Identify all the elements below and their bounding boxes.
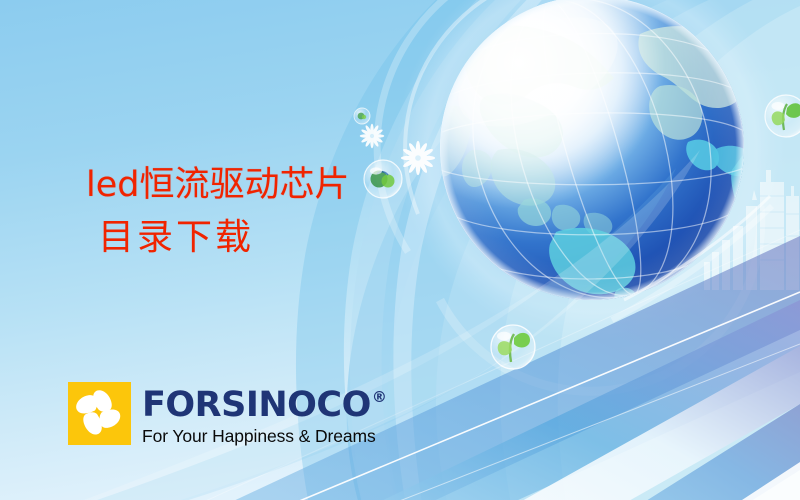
light-streak [624,196,770,300]
registered-trademark-icon: ® [372,390,387,405]
bubble-right [765,95,800,137]
slide-canvas: led恒流驱动芯片 目录下载 FORSINOCO ® For Your Happ… [0,0,800,500]
logo-wordmark: FORSINOCO ® [142,388,386,423]
bubble-tiny [354,108,370,124]
corner-ribbon-bands [120,230,800,500]
headline-block: led恒流驱动芯片 目录下载 [86,164,506,260]
city-skyline-silhouette [704,170,799,290]
pinwheel-icon [68,382,131,445]
headline-line-2: 目录下载 [98,216,506,260]
logo-tagline: For Your Happiness & Dreams [142,426,386,447]
logo-text-block: FORSINOCO ® For Your Happiness & Dreams [142,382,386,447]
company-logo[interactable]: FORSINOCO ® For Your Happiness & Dreams [68,382,386,447]
snowflake-small [360,124,384,148]
headline-line-1: led恒流驱动芯片 [86,164,506,207]
bubble-leaf [491,325,535,369]
logo-wordmark-text: FORSINOCO [142,388,371,423]
